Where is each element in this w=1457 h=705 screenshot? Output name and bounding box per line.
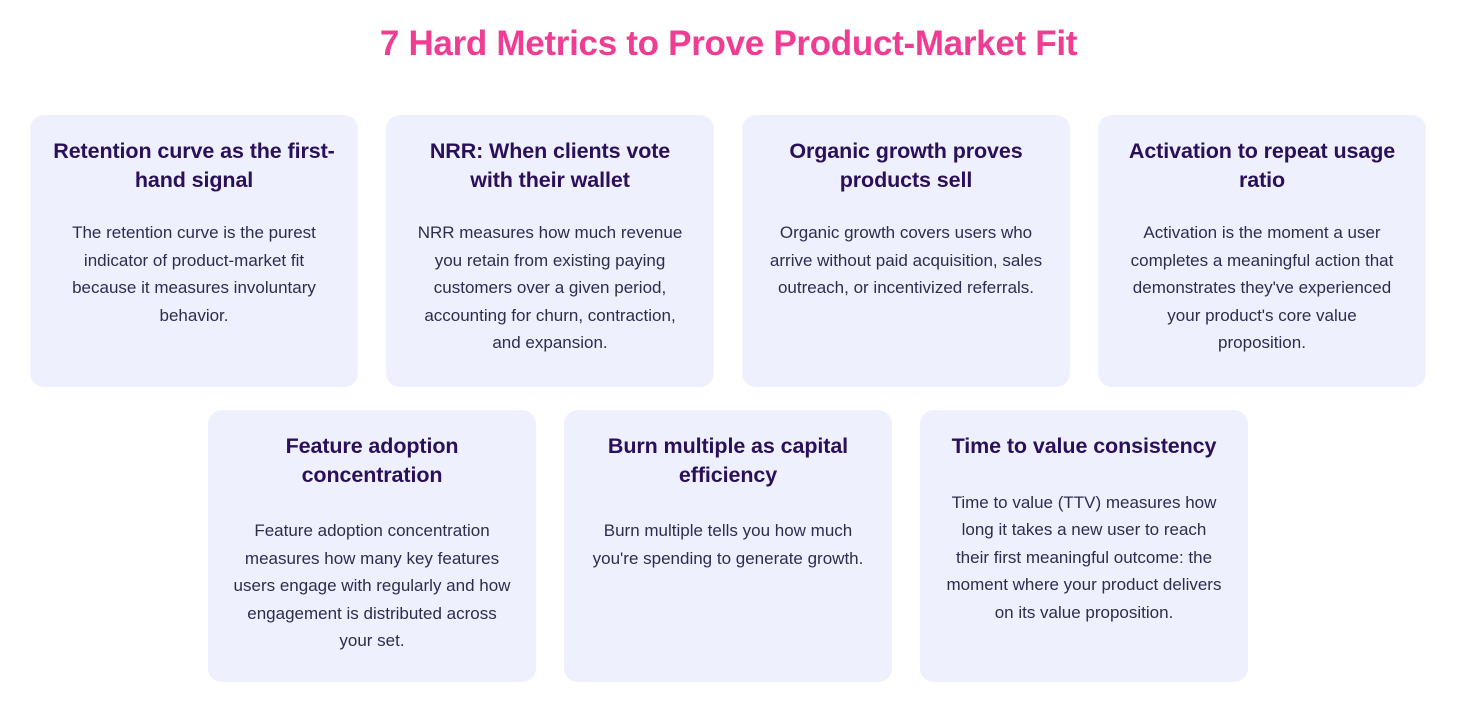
metric-card-retention-curve: Retention curve as the first-hand signal… (30, 115, 358, 387)
metric-card-body: Activation is the moment a user complete… (1118, 219, 1406, 357)
metrics-row-top: Retention curve as the first-hand signal… (30, 115, 1427, 387)
metric-card-body: Feature adoption concentration measures … (228, 517, 516, 655)
metric-card-time-to-value: Time to value consistency Time to value … (920, 410, 1248, 682)
metric-card-activation-ratio: Activation to repeat usage ratio Activat… (1098, 115, 1426, 387)
metric-card-heading: Retention curve as the first-hand signal (50, 137, 338, 194)
metric-card-burn-multiple: Burn multiple as capital efficiency Burn… (564, 410, 892, 682)
metric-card-heading: Feature adoption concentration (228, 432, 516, 489)
metric-card-feature-adoption: Feature adoption concentration Feature a… (208, 410, 536, 682)
metric-card-body: The retention curve is the purest indica… (50, 219, 338, 329)
metric-card-heading: Time to value consistency (950, 432, 1219, 461)
metric-card-heading: Organic growth proves products sell (762, 137, 1050, 194)
metric-card-heading: Activation to repeat usage ratio (1118, 137, 1406, 194)
metric-card-organic-growth: Organic growth proves products sell Orga… (742, 115, 1070, 387)
metric-card-body: NRR measures how much revenue you retain… (406, 219, 694, 357)
metric-card-nrr: NRR: When clients vote with their wallet… (386, 115, 714, 387)
metrics-row-bottom: Feature adoption concentration Feature a… (208, 410, 1248, 682)
metric-card-body: Organic growth covers users who arrive w… (762, 219, 1050, 302)
page-title: 7 Hard Metrics to Prove Product-Market F… (0, 22, 1457, 66)
metric-card-body: Time to value (TTV) measures how long it… (940, 489, 1228, 627)
metric-card-body: Burn multiple tells you how much you're … (584, 517, 872, 572)
metric-card-heading: Burn multiple as capital efficiency (584, 432, 872, 489)
infographic-root: 7 Hard Metrics to Prove Product-Market F… (0, 0, 1457, 705)
metric-card-heading: NRR: When clients vote with their wallet (406, 137, 694, 194)
